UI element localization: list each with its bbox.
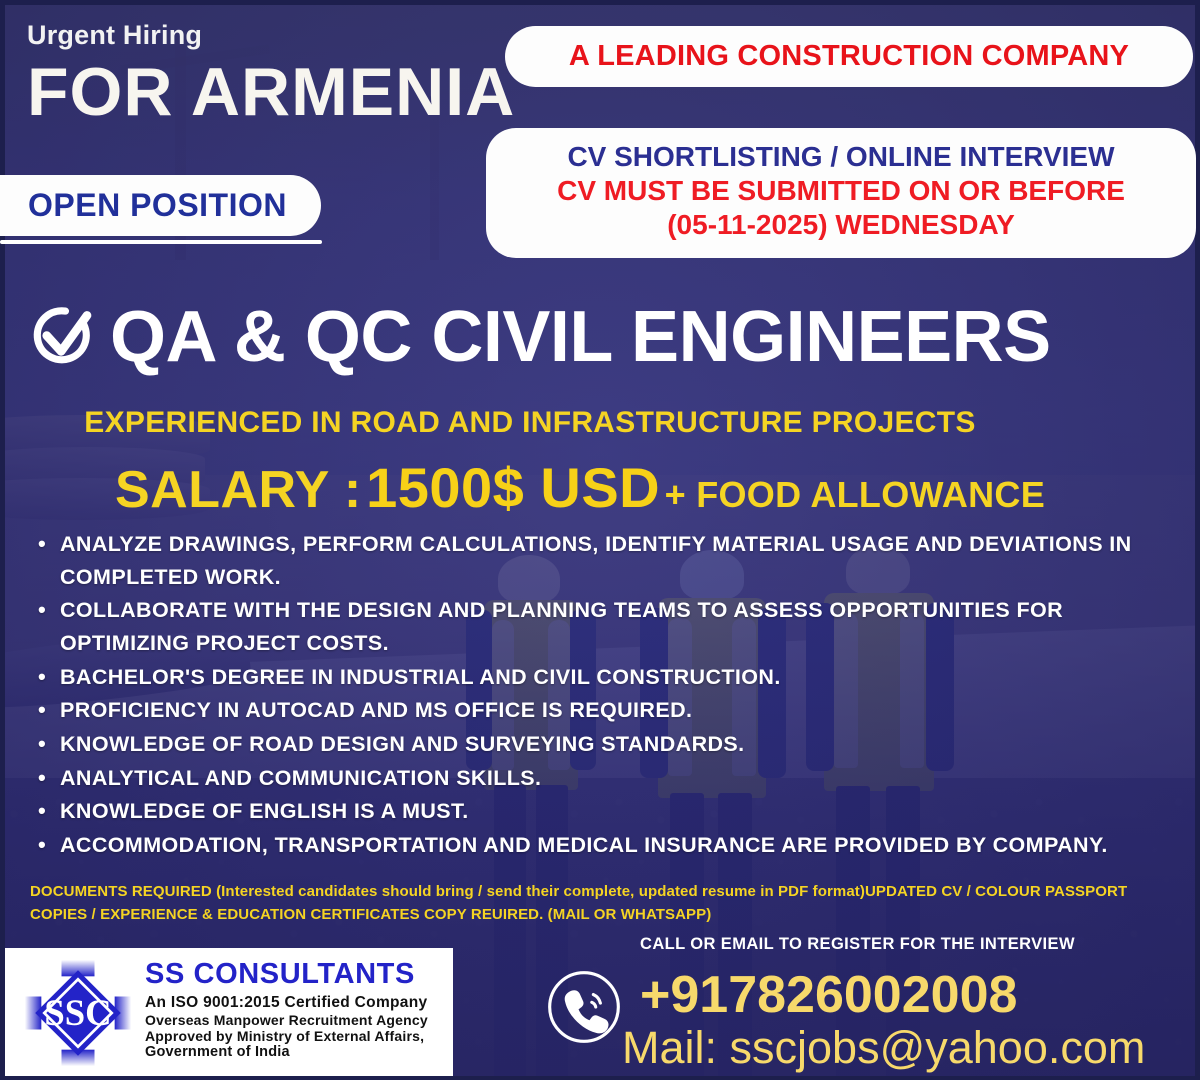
requirements-list: ANALYZE DRAWINGS, PERFORM CALCULATIONS, … (30, 528, 1180, 863)
salary-label: SALARY : (115, 461, 362, 519)
company-card: A LEADING CONSTRUCTION COMPANY (505, 26, 1193, 87)
job-title: QA & QC CIVIL ENGINEERS (110, 301, 1051, 373)
salary-extra: + FOOD ALLOWANCE (665, 474, 1045, 515)
agency-name: SS CONSULTANTS (145, 958, 428, 991)
cv-deadline-date: (05-11-2025) WEDNESDAY (502, 208, 1180, 242)
cv-deadline-card: CV SHORTLISTING / ONLINE INTERVIEW CV MU… (486, 128, 1196, 258)
company-card-line: A LEADING CONSTRUCTION COMPANY (525, 40, 1173, 73)
header-underline-rule (0, 240, 322, 244)
phone-call-icon (545, 968, 623, 1046)
list-item: BACHELOR'S DEGREE IN INDUSTRIAL AND CIVI… (30, 661, 1180, 694)
ssc-diamond-logo-icon: SSC (23, 958, 133, 1068)
urgent-hiring-label: Urgent Hiring (27, 20, 202, 51)
agency-certification: An ISO 9001:2015 Certified Company (145, 994, 428, 1012)
recruitment-poster: Urgent Hiring FOR ARMENIA OPEN POSITION … (0, 0, 1200, 1080)
list-item: KNOWLEDGE OF ENGLISH IS A MUST. (30, 795, 1180, 828)
contact-phone-number[interactable]: +917826002008 (640, 965, 1017, 1025)
open-position-label: OPEN POSITION (0, 175, 321, 236)
job-subtitle: EXPERIENCED IN ROAD AND INFRASTRUCTURE P… (0, 406, 1060, 440)
cv-deadline-line: CV MUST BE SUBMITTED ON OR BEFORE (502, 174, 1180, 208)
agency-logo-panel: SSC SS CONSULTANTS An ISO 9001:2015 Cert… (5, 948, 453, 1076)
contact-email[interactable]: Mail: sscjobs@yahoo.com (622, 1022, 1145, 1074)
list-item: COLLABORATE WITH THE DESIGN AND PLANNING… (30, 594, 1180, 659)
svg-text:SSC: SSC (44, 992, 111, 1033)
agency-type: Overseas Manpower Recruitment Agency (145, 1012, 428, 1028)
salary-amount: 1500$ USD (366, 456, 660, 519)
list-item: ACCOMMODATION, TRANSPORTATION AND MEDICA… (30, 829, 1180, 862)
agency-government: Government of India (145, 1044, 428, 1060)
open-position-badge: OPEN POSITION (0, 175, 321, 236)
list-item: ANALYZE DRAWINGS, PERFORM CALCULATIONS, … (30, 528, 1180, 593)
country-headline: FOR ARMENIA (27, 58, 515, 126)
agency-details: SS CONSULTANTS An ISO 9001:2015 Certifie… (145, 958, 428, 1060)
job-title-row: QA & QC CIVIL ENGINEERS (28, 300, 1051, 374)
check-circle-icon (28, 300, 100, 374)
salary-row: SALARY : 1500$ USD + FOOD ALLOWANCE (0, 455, 1160, 520)
cv-shortlisting-line: CV SHORTLISTING / ONLINE INTERVIEW (502, 140, 1180, 174)
agency-approval: Approved by Ministry of External Affairs… (145, 1028, 428, 1044)
list-item: PROFICIENCY IN AUTOCAD AND MS OFFICE IS … (30, 694, 1180, 727)
list-item: ANALYTICAL AND COMMUNICATION SKILLS. (30, 762, 1180, 795)
list-item: KNOWLEDGE OF ROAD DESIGN AND SURVEYING S… (30, 728, 1180, 761)
call-to-action-note: CALL OR EMAIL TO REGISTER FOR THE INTERV… (640, 935, 1075, 954)
documents-required-note: DOCUMENTS REQUIRED (Interested candidate… (30, 880, 1180, 927)
